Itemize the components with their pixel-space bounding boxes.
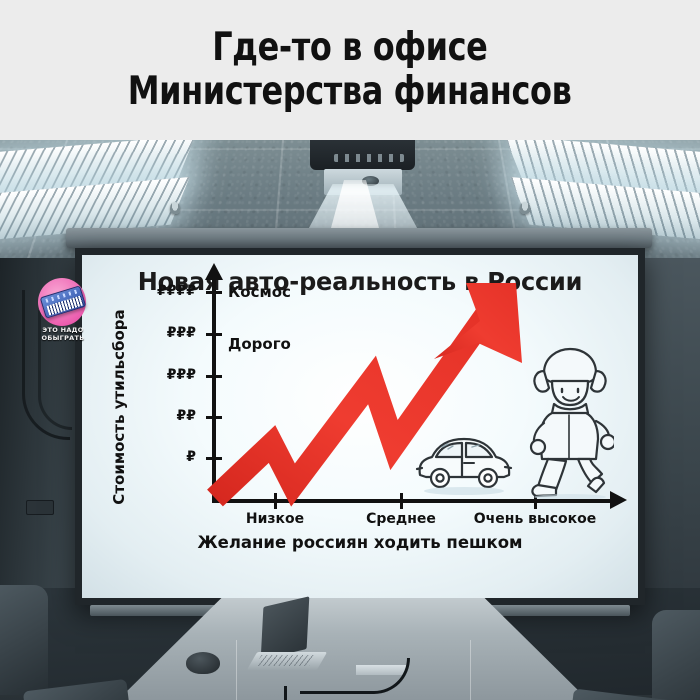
table-seam-right [470,640,471,700]
caption-bar: Где-то в офисе Министерства финансов [0,0,700,140]
conference-room-photo: Новая авто-реальность в России Стоимость… [0,140,700,700]
watermark-text-line-2: ОБЫГРАТЬ [28,334,98,342]
sprinkler-head-left-icon [170,202,180,214]
table-seam-left [236,640,237,700]
watermark-text-line-1: ЭТО НАДО [28,326,98,334]
chair-right-1 [652,610,700,700]
ceiling-projector [310,140,415,202]
computer-mouse [186,652,220,674]
caption-line-1: Где-то в офисе [212,26,487,70]
projection-screen: Новая авто-реальность в России Стоимость… [75,248,645,605]
car-sketch-icon [412,423,516,497]
projector-ports [334,154,404,162]
walking-person-sketch-icon [522,347,614,499]
projector-lens-icon [362,176,379,186]
chair-left-1 [0,585,48,695]
screen-valance-housing [66,228,652,248]
sprinkler-head-right-icon [520,202,530,214]
watermark-sticker: ЭТО НАДО ОБЫГРАТЬ [32,278,92,346]
watermark-text: ЭТО НАДО ОБЫГРАТЬ [28,326,98,342]
caption-line-2: Министерства финансов [128,70,572,114]
slide-surface: Новая авто-реальность в России Стоимость… [82,255,638,598]
laptop-cable-2 [284,686,342,700]
projector-body [310,140,415,170]
wall-outlet [26,500,54,515]
